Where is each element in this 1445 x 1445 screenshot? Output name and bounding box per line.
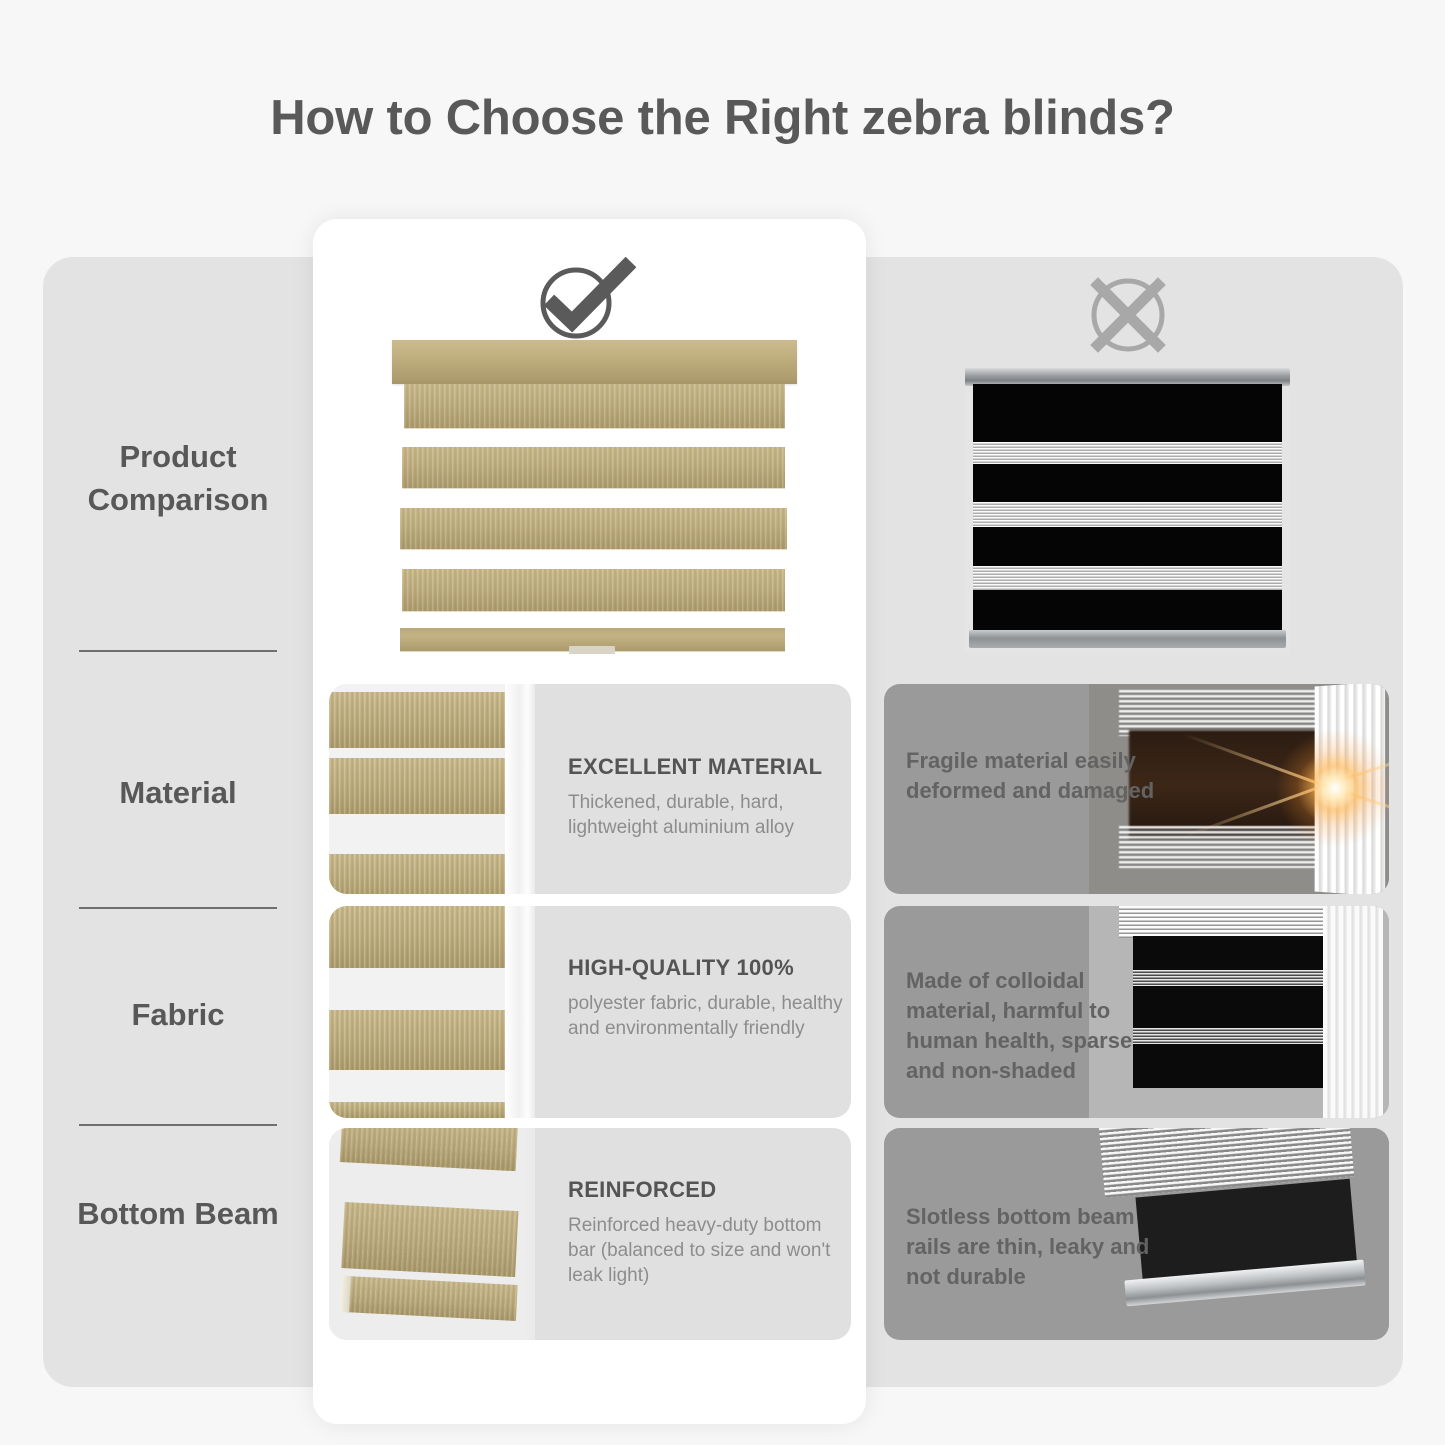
blind-bottom-rail: [969, 630, 1286, 648]
blind-pull-tab: [569, 646, 615, 654]
blind-slat: [402, 569, 785, 612]
row-label-column: Product Comparison Material Fabric Botto…: [43, 257, 313, 1387]
good-card-material-body: Thickened, durable, hard, lightweight al…: [568, 790, 843, 840]
bad-card-bottom-beam: Slotless bottom beam rails are thin, lea…: [884, 1128, 1389, 1340]
blind-fabric-body: [973, 384, 1282, 632]
good-card-bottom-beam-heading: REINFORCED: [568, 1177, 716, 1203]
good-card-fabric: HIGH-QUALITY 100% polyester fabric, dura…: [329, 906, 851, 1118]
cross-circle-icon: [1082, 272, 1174, 358]
bad-card-fabric-text: Made of colloidal material, harmful to h…: [906, 966, 1166, 1086]
image-fade: [525, 1128, 535, 1340]
blind-slat: [329, 692, 505, 748]
window-frame: [1323, 906, 1383, 1118]
bad-card-bottom-beam-text: Slotless bottom beam rails are thin, lea…: [906, 1202, 1166, 1292]
blind-slat: [400, 508, 787, 550]
sun-flare-icon: [1275, 728, 1389, 848]
blind-slat: [402, 447, 785, 489]
bottom-beam-end-cap: [340, 1276, 351, 1312]
good-card-material: EXCELLENT MATERIAL Thickened, durable, h…: [329, 684, 851, 894]
blind-slat: [329, 854, 505, 894]
good-card-bottom-beam: REINFORCED Reinforced heavy-duty bottom …: [329, 1128, 851, 1340]
image-fade: [525, 906, 535, 1118]
good-card-material-text: EXCELLENT MATERIAL Thickened, durable, h…: [568, 684, 843, 894]
blind-slat: [340, 1128, 518, 1171]
bad-card-material-text: Fragile material easily deformed and dam…: [906, 746, 1166, 806]
hero-beige-zebra-blind: [392, 340, 797, 665]
bottom-beam-bar: [344, 1276, 518, 1321]
blind-sheer-band: [973, 442, 1282, 464]
bad-card-fabric: Made of colloidal material, harmful to h…: [884, 906, 1389, 1118]
blind-slat: [329, 1010, 505, 1070]
hero-black-zebra-blind: [965, 368, 1290, 653]
blind-slat: [341, 1202, 518, 1277]
page-title: How to Choose the Right zebra blinds?: [0, 90, 1445, 146]
row-divider-3: [79, 1124, 277, 1126]
good-card-bottom-beam-body: Reinforced heavy-duty bottom bar (balanc…: [568, 1213, 843, 1288]
good-card-material-image: [329, 684, 535, 894]
blind-sheer-band: [973, 566, 1282, 590]
beige-blind-fabric-photo: [329, 906, 535, 1118]
comparison-infographic: How to Choose the Right zebra blinds? Pr…: [0, 0, 1445, 1445]
beige-blind-window-photo: [329, 684, 535, 894]
blind-headrail: [392, 340, 797, 384]
row-label-product-comparison: Product Comparison: [43, 435, 313, 521]
blind-slat: [329, 758, 505, 814]
row-divider-1: [79, 650, 277, 652]
good-card-fabric-heading: HIGH-QUALITY 100%: [568, 955, 794, 981]
bad-card-material: Fragile material easily deformed and dam…: [884, 684, 1389, 894]
good-card-bottom-beam-text: REINFORCED Reinforced heavy-duty bottom …: [568, 1128, 843, 1340]
row-label-fabric: Fabric: [43, 993, 313, 1036]
row-label-material: Material: [43, 771, 313, 814]
blind-slat: [329, 906, 505, 968]
image-fade: [525, 684, 535, 894]
good-card-material-heading: EXCELLENT MATERIAL: [568, 754, 822, 780]
row-divider-2: [79, 907, 277, 909]
blind-slat: [404, 384, 785, 429]
good-card-fabric-text: HIGH-QUALITY 100% polyester fabric, dura…: [568, 906, 843, 1118]
good-card-fabric-image: [329, 906, 535, 1118]
beige-bottom-beam-photo: [329, 1128, 535, 1340]
good-card-fabric-body: polyester fabric, durable, healthy and e…: [568, 991, 843, 1041]
good-card-bottom-beam-image: [329, 1128, 535, 1340]
blind-slat: [329, 1102, 505, 1118]
row-label-bottom-beam: Bottom Beam: [43, 1192, 313, 1235]
blind-slat-set: [1119, 906, 1329, 938]
check-circle-icon: [527, 252, 647, 342]
blind-sheer-band: [973, 502, 1282, 527]
